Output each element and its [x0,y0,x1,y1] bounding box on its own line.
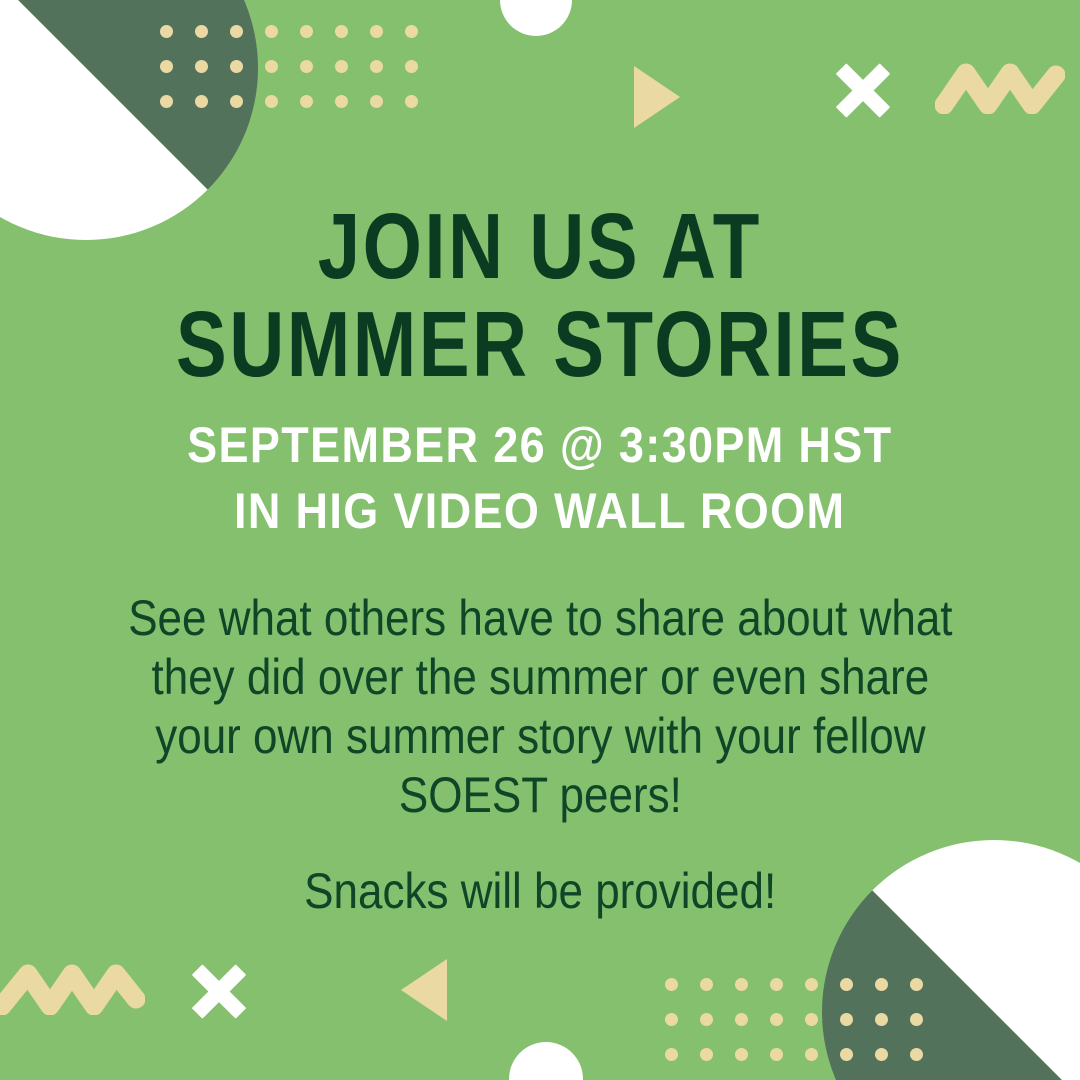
event-description: See what others have to share about what… [128,589,952,825]
headline-line-1: JOIN US AT [318,201,762,292]
event-datetime: SEPTEMBER 26 @ 3:30PM HST [187,420,892,470]
event-flyer: JOIN US AT SUMMER STORIES SEPTEMBER 26 @… [0,0,1080,1080]
snacks-note: Snacks will be provided! [304,862,776,921]
event-location: IN HIG VIDEO WALL ROOM [234,486,845,536]
flyer-content: JOIN US AT SUMMER STORIES SEPTEMBER 26 @… [0,0,1080,1080]
headline-line-2: SUMMER STORIES [176,299,904,390]
